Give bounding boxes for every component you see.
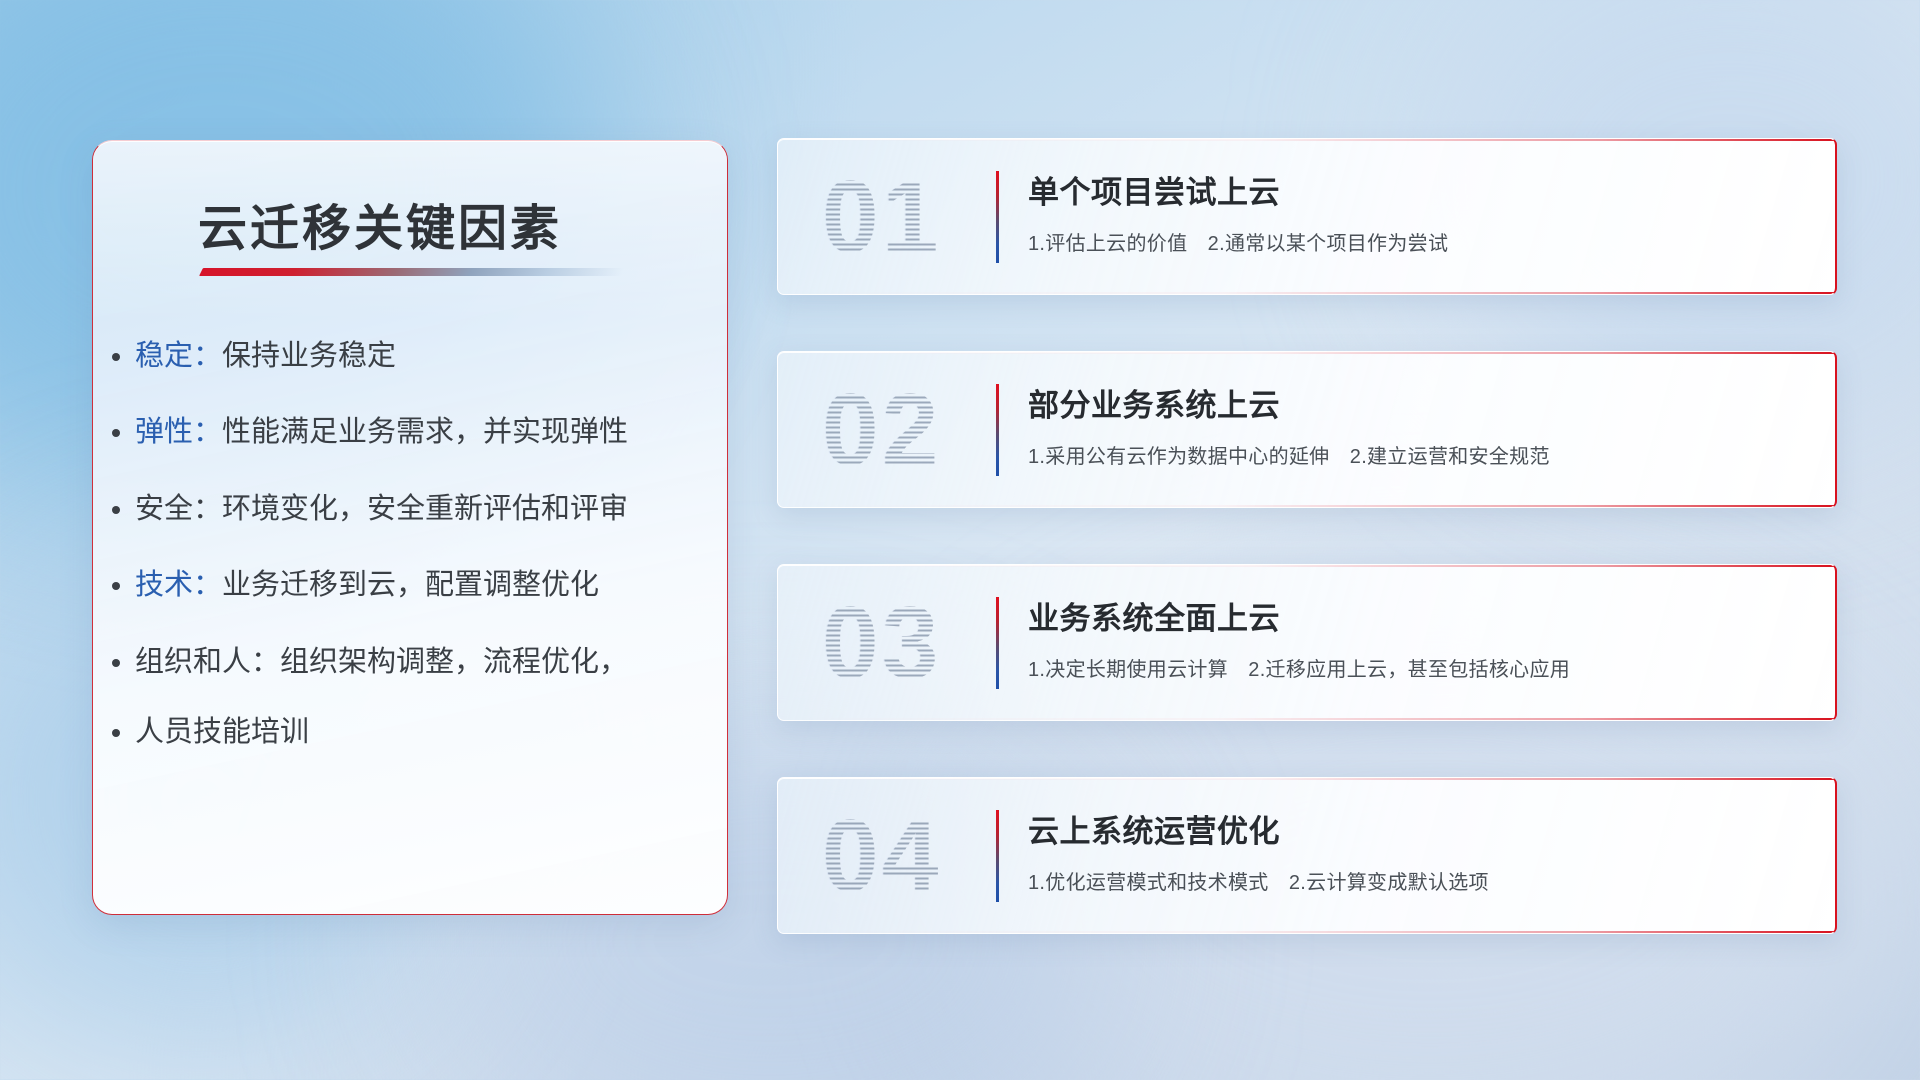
stage-description: 1.优化运营模式和技术模式 2.云计算变成默认选项 [1028,866,1489,895]
stage-description: 1.采用公有云作为数据中心的延伸 2.建立运营和安全规范 [1028,440,1550,469]
list-item: 人员技能培训 [135,717,697,747]
stage-title: 部分业务系统上云 [1028,380,1280,425]
list-item-key: 技术： [135,569,222,601]
cloud-migration-stages: 01单个项目尝试上云1.评估上云的价值 2.通常以某个项目作为尝试02部分业务系… [777,138,1837,990]
stage-divider-accent [996,171,999,263]
list-item: 组织和人：组织架构调整，流程优化， [135,647,697,677]
stage-description: 1.决定长期使用云计算 2.迁移应用上云，甚至包括核心应用 [1028,653,1570,682]
stage-description: 1.评估上云的价值 2.通常以某个项目作为尝试 [1028,227,1448,256]
list-item-text: 业务迁移到云，配置调整优化 [222,569,599,601]
key-factors-panel: 云迁移关键因素 稳定：保持业务稳定弹性：性能满足业务需求，并实现弹性安全：环境变… [92,140,728,915]
stage-number: 02 [822,371,941,488]
list-item-key: 安全： [135,493,222,525]
list-item: 技术：业务迁移到云，配置调整优化 [135,570,697,600]
stage-divider-accent [996,597,999,689]
stage-card[interactable]: 02部分业务系统上云1.采用公有云作为数据中心的延伸 2.建立运营和安全规范 [777,351,1837,508]
stage-title: 业务系统全面上云 [1028,593,1280,638]
stage-divider-accent [996,384,999,476]
stage-number: 03 [822,584,941,701]
title-underline-accent [199,268,625,276]
list-item: 稳定：保持业务稳定 [135,341,697,371]
stage-number-watermark: 01 [802,139,992,294]
list-item: 弹性：性能满足业务需求，并实现弹性 [135,417,697,447]
list-item-key: 组织和人： [135,646,280,678]
stage-card[interactable]: 03业务系统全面上云1.决定长期使用云计算 2.迁移应用上云，甚至包括核心应用 [777,564,1837,721]
page-title: 云迁移关键因素 [198,189,562,260]
stage-divider-accent [996,810,999,902]
stage-card[interactable]: 04云上系统运营优化1.优化运营模式和技术模式 2.云计算变成默认选项 [777,777,1837,934]
list-item-text: 环境变化，安全重新评估和评审 [222,493,628,525]
stage-number-watermark: 04 [802,778,992,933]
list-item-text: 保持业务稳定 [222,340,396,372]
key-factors-list: 稳定：保持业务稳定弹性：性能满足业务需求，并实现弹性安全：环境变化，安全重新评估… [135,341,697,794]
list-item-key: 稳定： [135,340,222,372]
list-item-text: 组织架构调整，流程优化， [280,646,628,678]
stage-card[interactable]: 01单个项目尝试上云1.评估上云的价值 2.通常以某个项目作为尝试 [777,138,1837,295]
stage-title: 云上系统运营优化 [1028,806,1280,851]
slide-canvas: 云迁移关键因素 稳定：保持业务稳定弹性：性能满足业务需求，并实现弹性安全：环境变… [0,0,1920,1080]
stage-title: 单个项目尝试上云 [1028,167,1280,212]
list-item: 安全：环境变化，安全重新评估和评审 [135,494,697,524]
stage-number-watermark: 02 [802,352,992,507]
stage-number: 04 [822,797,941,914]
stage-number-watermark: 03 [802,565,992,720]
list-item-text: 性能满足业务需求，并实现弹性 [222,416,628,448]
stage-number: 01 [822,158,941,275]
list-item-key: 弹性： [135,416,222,448]
list-item-text: 人员技能培训 [135,716,309,748]
